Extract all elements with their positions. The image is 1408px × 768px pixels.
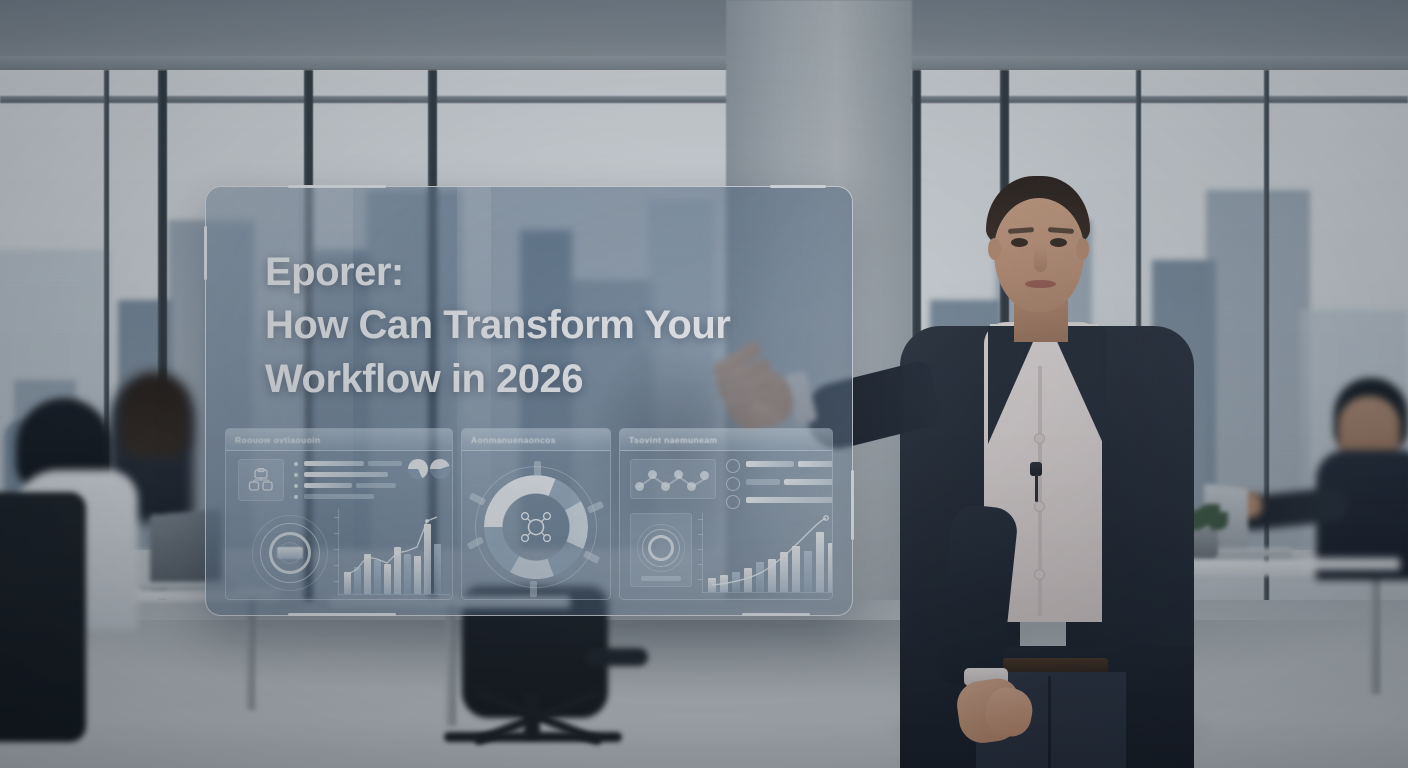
presenter-eye (1050, 238, 1067, 247)
panel-right-body (620, 451, 832, 599)
dashboard-panels: Roouow ovtiaouoin (225, 428, 833, 600)
scatter-point (635, 482, 644, 491)
presenter-lapel-right (1050, 326, 1106, 450)
text-bar (304, 472, 388, 477)
microphone-cord (1035, 474, 1038, 502)
donut-tick (534, 461, 541, 477)
presentation-screen[interactable]: Eporer: How Can Transform Your Workflow … (205, 186, 853, 616)
radial-dial[interactable] (252, 515, 328, 591)
window-transom-upper (0, 96, 1408, 103)
window-mullion (1264, 70, 1269, 630)
list-bullet (294, 462, 298, 466)
frame-highlight-dash (770, 185, 826, 188)
presenter-mouth (1025, 280, 1056, 288)
presenter-trouser-seam (1048, 676, 1051, 768)
scatter-cluster-tile[interactable] (630, 459, 716, 499)
title-line-2: How Can Transform Your (265, 298, 805, 352)
panel-right-header: Tsovint naemuneam (620, 429, 832, 451)
donut-tick (530, 581, 537, 597)
frame-highlight-dash (288, 613, 396, 616)
radial-gauge-tile[interactable] (630, 513, 692, 587)
presentation-title: Eporer: How Can Transform Your Workflow … (265, 246, 805, 406)
text-bar (304, 461, 364, 466)
list-bullet (294, 484, 298, 488)
office-chair-center-arm (586, 648, 648, 666)
panel-center-header: Aonmanuenaoncos (462, 429, 610, 451)
panel-left-header: Roouow ovtiaouoin (226, 429, 452, 451)
desk-leg (246, 600, 255, 710)
status-icon-2[interactable] (726, 477, 740, 491)
gauge-icon-1[interactable] (408, 459, 428, 479)
desk-center-leg (446, 606, 456, 726)
desk-plant-leaf (1210, 512, 1228, 530)
text-bar (356, 483, 396, 488)
status-bar (798, 461, 833, 467)
title-line-1: Eporer: (265, 246, 805, 298)
chart-growth-curve (702, 513, 833, 593)
gauge-icon-2[interactable] (430, 459, 450, 479)
text-bar (304, 483, 352, 488)
presenter-eye (1011, 238, 1028, 247)
frame-highlight-dash (288, 185, 386, 188)
colleague-left-background-hair (120, 372, 190, 458)
frame-highlight-dash (204, 226, 207, 280)
presenter-shirt-button (1035, 570, 1044, 579)
chart-trend-line (338, 509, 450, 595)
status-icon-1[interactable] (726, 459, 740, 473)
scatter-point (700, 471, 709, 480)
presenter-ear (1076, 238, 1089, 260)
status-bar (784, 479, 833, 485)
status-bar (746, 461, 794, 467)
panel-center[interactable]: Aonmanuenaoncos (461, 428, 611, 600)
frame-highlight-dash (851, 470, 854, 540)
gauge-caption (641, 576, 681, 581)
status-icon-3[interactable] (726, 495, 740, 509)
panel-left-body (226, 451, 452, 599)
panel-center-body (462, 451, 610, 599)
desk-leg-right-2 (1370, 574, 1380, 694)
office-chair-left (0, 492, 86, 742)
presenter-lapel-left (988, 326, 1040, 444)
panel-right[interactable]: Tsovint naemuneam (619, 428, 833, 600)
panel-center-header-label: Aonmanuenaoncos (471, 435, 556, 445)
presenter (880, 176, 1210, 768)
scatter-point (648, 470, 657, 479)
presenter-shirt-button (1035, 502, 1044, 511)
right-panel-bar-chart[interactable] (702, 513, 833, 593)
radial-dial-value (277, 547, 303, 559)
panel-left[interactable]: Roouow ovtiaouoin (225, 428, 453, 600)
center-panel-donut-chart[interactable] (484, 475, 588, 579)
presenter-ear (988, 238, 1001, 260)
title-line-3: Workflow in 2026 (265, 352, 805, 406)
status-bar (746, 479, 780, 485)
text-bar (368, 461, 402, 466)
briefcase-network-icon (248, 468, 274, 492)
screenshot-stage: Eporer: How Can Transform Your Workflow … (0, 0, 1408, 768)
text-bar (304, 494, 374, 499)
scatter-point (687, 482, 696, 491)
scatter-point (661, 482, 670, 491)
node-network-icon (516, 507, 556, 547)
paper-on-desk (1304, 558, 1400, 570)
list-bullet (294, 473, 298, 477)
left-panel-bar-chart[interactable] (338, 509, 450, 595)
scatter-point (674, 470, 683, 479)
status-bar (746, 497, 833, 503)
panel-left-header-label: Roouow ovtiaouoin (235, 435, 321, 445)
list-bullet (294, 495, 298, 499)
presenter-nose (1034, 246, 1047, 272)
panel-right-header-label: Tsovint naemuneam (629, 435, 717, 445)
frame-highlight-dash (742, 613, 810, 616)
briefcase-network-icon-tile[interactable] (238, 459, 284, 501)
